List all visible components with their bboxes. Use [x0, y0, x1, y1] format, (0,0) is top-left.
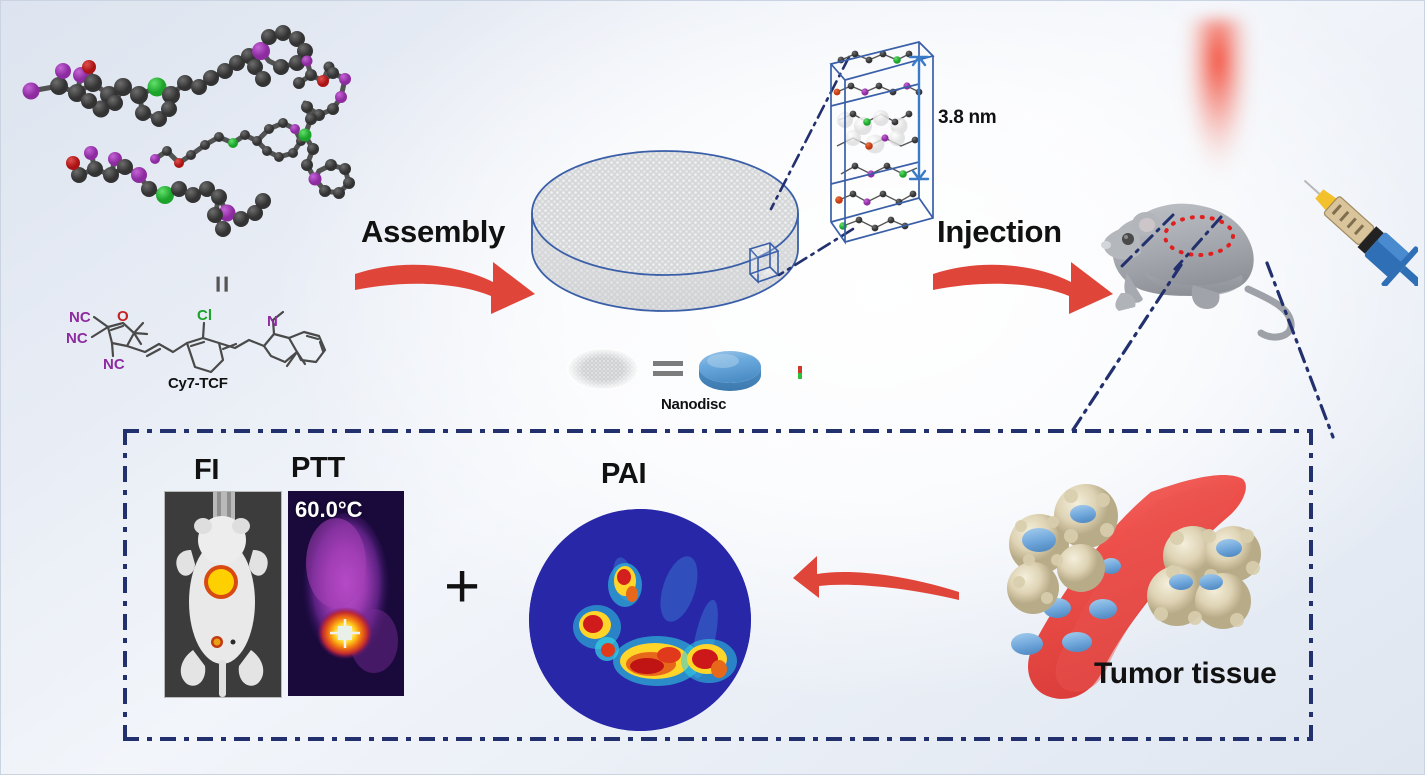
cy7-tcf-structure: NC NC NC O Cl N: [61, 296, 371, 381]
o-label: O: [117, 308, 129, 325]
cl-label: Cl: [197, 307, 212, 324]
legend-tiny-marker-icon: [798, 366, 802, 379]
molecule-cluster: [19, 23, 369, 278]
n-label: N: [267, 313, 278, 330]
legend-equals-icon: [653, 358, 683, 378]
fi-image[interactable]: [164, 491, 282, 698]
pai-image[interactable]: [529, 509, 751, 731]
ptt-temperature-readout: 60.0°C: [295, 497, 363, 523]
fi-label: FI: [194, 456, 219, 485]
assembly-arrow-icon: [353, 256, 538, 318]
cy7-tcf-name: Cy7-TCF: [168, 376, 228, 391]
ptt-thermal-image[interactable]: 60.0°C: [288, 491, 404, 696]
panel-connector-lines-left: [1113, 211, 1243, 273]
pai-label: PAI: [601, 460, 646, 489]
assembly-label: Assembly: [361, 216, 505, 247]
ptt-label: PTT: [291, 454, 345, 483]
thickness-dimension-bar: [908, 53, 930, 183]
panel-connector-lines: [1061, 261, 1361, 441]
thickness-label: 3.8 nm: [938, 108, 996, 127]
nc-label-3: NC: [103, 356, 125, 373]
plus-symbol: +: [444, 556, 480, 618]
tumor-tissue-label: Tumor tissue: [1094, 659, 1277, 689]
nc-label-2: NC: [66, 330, 88, 347]
nc-label-1: NC: [69, 309, 91, 326]
nanodisc-legend-gray-disc: [567, 348, 639, 390]
molecule-equals-symbol: =: [207, 275, 237, 292]
injection-label: Injection: [937, 216, 1062, 247]
figure-canvas: =: [0, 0, 1425, 775]
nanodisc-legend-blue-disc: [697, 345, 763, 393]
nanodisc-legend-label: Nanodisc: [661, 397, 726, 412]
